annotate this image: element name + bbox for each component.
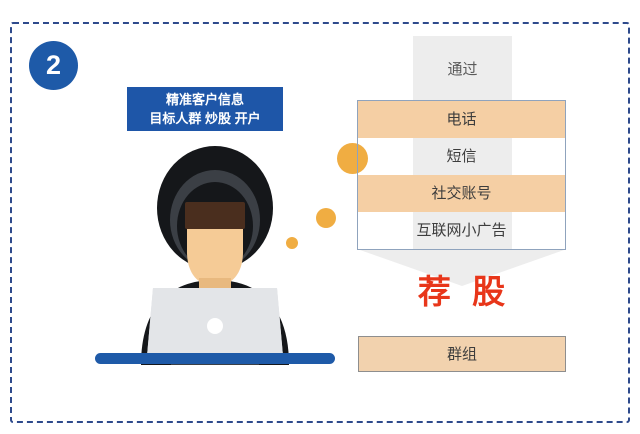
- hacker-illustration: [95, 140, 335, 365]
- channel-row[interactable]: 电话: [358, 101, 565, 138]
- channel-list: 电话 短信 社交账号 互联网小广告: [357, 100, 566, 250]
- channel-row[interactable]: 互联网小广告: [358, 212, 565, 249]
- channel-row[interactable]: 社交账号: [358, 175, 565, 212]
- infographic-canvas: 2 精准客户信息 目标人群 炒股 开户: [0, 0, 640, 434]
- step-number-text: 2: [46, 52, 61, 79]
- caption-box: 精准客户信息 目标人群 炒股 开户: [127, 87, 283, 131]
- channel-label: 电话: [446, 112, 476, 127]
- headline-text: 荐 股: [357, 272, 566, 312]
- via-label: 通过: [413, 60, 512, 80]
- channel-label: 互联网小广告: [416, 223, 506, 238]
- caption-line-1: 精准客户信息: [166, 90, 244, 109]
- caption-line-2: 目标人群 炒股 开户: [149, 109, 260, 128]
- group-label: 群组: [447, 347, 477, 362]
- channel-label: 社交账号: [431, 186, 491, 201]
- channel-row[interactable]: 短信: [358, 138, 565, 175]
- orange-dot-small: [286, 237, 298, 249]
- step-number-badge: 2: [29, 41, 78, 90]
- orange-dot-medium: [316, 208, 336, 228]
- group-box[interactable]: 群组: [358, 336, 566, 372]
- channel-label: 短信: [446, 149, 476, 164]
